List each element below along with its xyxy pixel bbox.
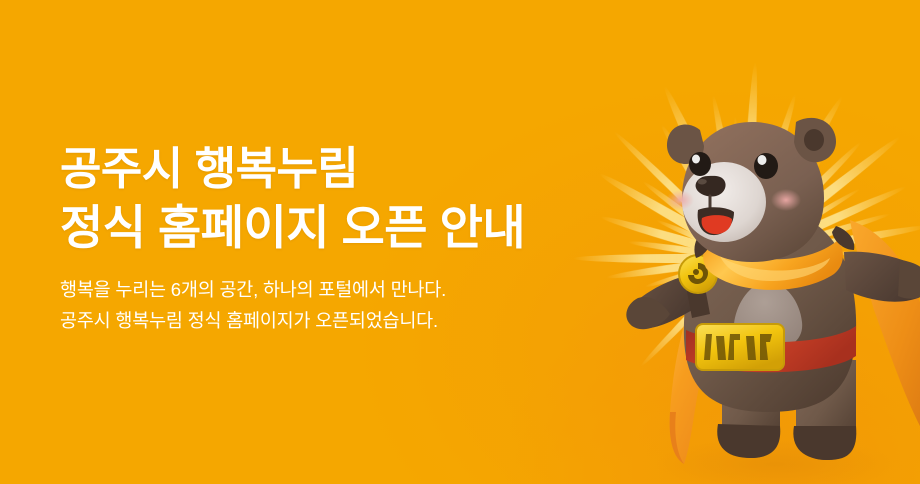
eye-right-highlight [758,155,767,165]
promo-banner: 공주시 행복누림 정식 홈페이지 오픈 안내 행복을 누리는 6개의 공간, 하… [0,0,920,484]
subcopy-line-1: 행복을 누리는 6개의 공간, 하나의 포털에서 만나다. [60,274,620,305]
eye-right [754,153,778,179]
medallion-emblem-dot [693,269,699,275]
paw-right [898,260,920,299]
eye-left-highlight [692,155,700,164]
banner-copy: 공주시 행복누림 정식 홈페이지 오픈 안내 행복을 누리는 6개의 공간, 하… [60,140,620,336]
subcopy-line-2: 공주시 행복누림 정식 홈페이지가 오픈되었습니다. [60,305,620,336]
headline-line-1: 공주시 행복누림 [60,140,620,198]
headline: 공주시 행복누림 정식 홈페이지 오픈 안내 [60,140,620,258]
subcopy: 행복을 누리는 6개의 공간, 하나의 포털에서 만나다. 공주시 행복누림 정… [60,274,620,336]
headline-line-2: 정식 홈페이지 오픈 안내 [60,198,620,258]
cheek-left [666,190,694,210]
cheek-right [771,189,801,211]
ear-right-inner [804,129,824,151]
bear-mascot [600,60,920,484]
eye-left [689,152,711,176]
